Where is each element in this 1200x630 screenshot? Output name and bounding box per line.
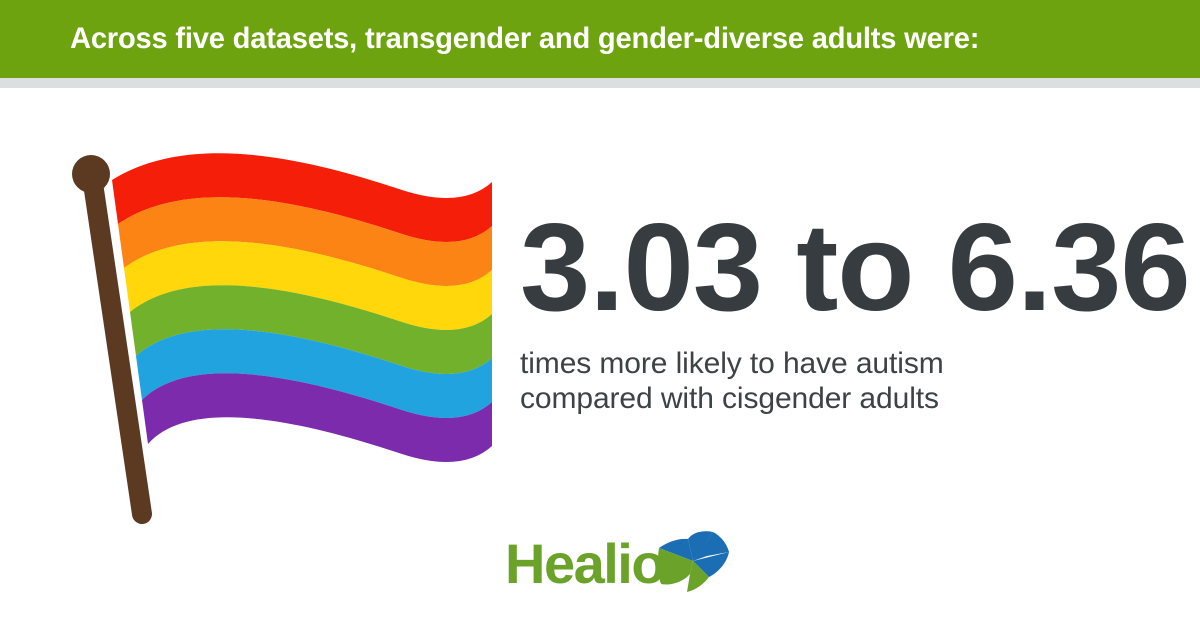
statistic-value: 3.03 to 6.36 [520, 212, 1193, 324]
page-title: Across five datasets, transgender and ge… [70, 22, 979, 56]
compass-star-icon [657, 530, 729, 597]
statistic-block: 3.03 to 6.36 times more likely to have a… [520, 212, 1180, 416]
flag-stripes [112, 153, 492, 462]
brand-wordmark: Healio [505, 536, 664, 592]
rainbow-pride-flag-icon [72, 138, 502, 528]
header-divider [0, 78, 1200, 88]
statistic-description-line-1: times more likely to have autism [520, 346, 1180, 381]
header-banner: Across five datasets, transgender and ge… [0, 0, 1200, 78]
statistic-description-line-2: compared with cisgender adults [520, 381, 1180, 416]
statistic-description: times more likely to have autism compare… [520, 346, 1180, 416]
infographic-canvas: Across five datasets, transgender and ge… [0, 0, 1200, 630]
brand-logo: Healio [505, 530, 735, 596]
